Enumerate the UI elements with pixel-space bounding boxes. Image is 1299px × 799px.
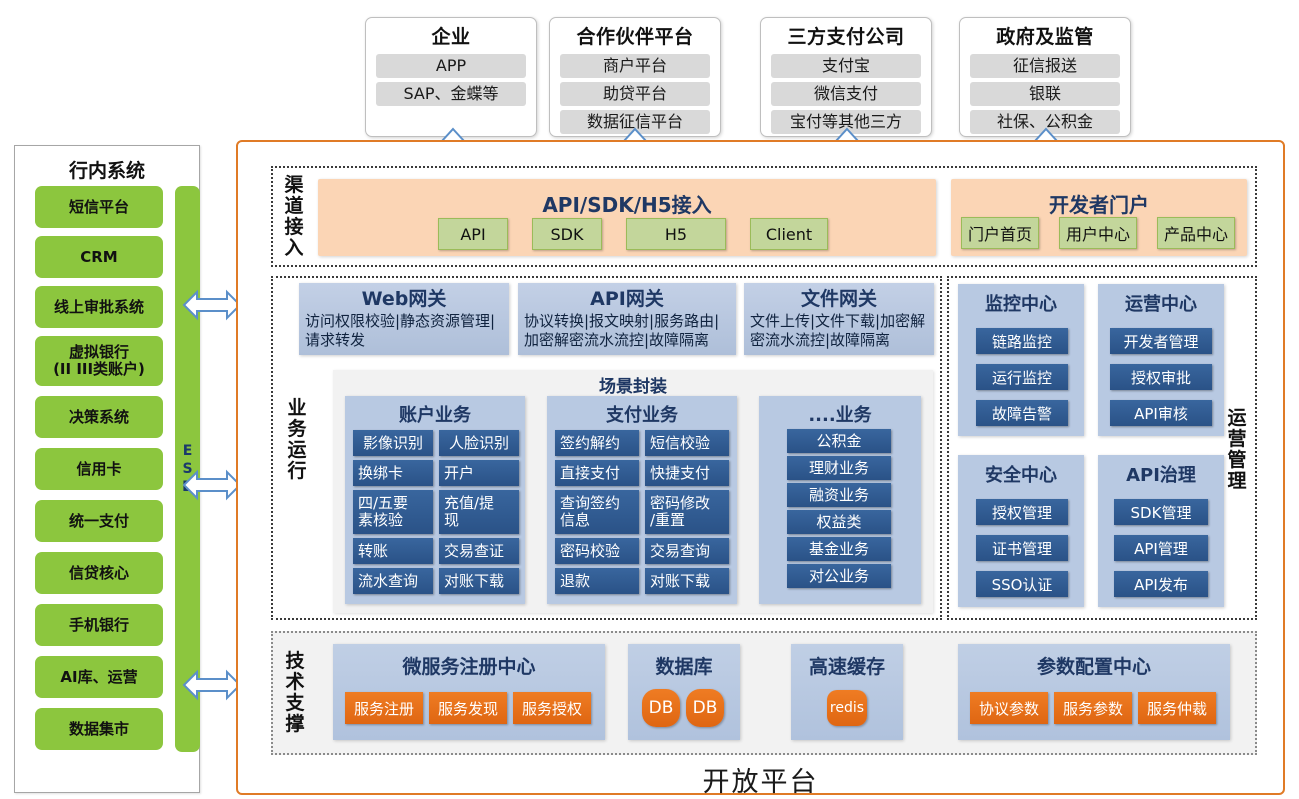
external-system-item[interactable]: 银联 [970,82,1120,106]
external-system-enterprise[interactable]: 企业 APP SAP、金蝶等 [365,17,537,137]
gateway-card-web[interactable]: Web网关 访问权限校验|静态资源管理|请求转发 [299,283,509,355]
ops-card-title: 监控中心 [958,290,1084,316]
gateway-card-api[interactable]: API网关 协议转换|报文映射|服务路由|加密解密流水流控|故障隔离 [518,283,736,355]
ops-chip[interactable]: 开发者管理 [1110,328,1212,354]
ops-chip[interactable]: API发布 [1114,571,1208,597]
gateway-title: 文件网关 [750,287,928,311]
biz-chip[interactable]: 基金业务 [787,537,891,561]
biz-chip[interactable]: 密码校验 [555,538,639,564]
bank-system-item[interactable]: 线上审批系统 [35,286,163,328]
chip-api[interactable]: API [438,218,508,250]
biz-chip[interactable]: 密码修改 /重置 [645,490,729,534]
ops-chip[interactable]: 证书管理 [976,535,1068,561]
ops-chip[interactable]: SDK管理 [1114,499,1208,525]
chip-client[interactable]: Client [750,218,828,250]
api-access-title: API/SDK/H5接入 [318,189,936,218]
biz-chip[interactable]: 短信校验 [645,430,729,456]
biz-chip[interactable]: 交易查证 [439,538,519,564]
bank-system-item[interactable]: 信贷核心 [35,552,163,594]
bank-system-item[interactable]: CRM [35,236,163,278]
biz-chip[interactable]: 快捷支付 [645,460,729,486]
business-column-title: 账户业务 [345,401,525,427]
bank-system-item[interactable]: 数据集市 [35,708,163,750]
tech-card-title: 数据库 [628,652,740,679]
bank-system-item[interactable]: 统一支付 [35,500,163,542]
external-system-item[interactable]: 助贷平台 [560,82,710,106]
tech-card-database: 数据库 DB DB [628,644,740,740]
external-system-title: 企业 [431,24,470,50]
biz-chip[interactable]: 签约解约 [555,430,639,456]
biz-chip[interactable]: 四/五要 素核验 [353,490,433,534]
external-system-title: 合作伙伴平台 [576,24,693,50]
tech-support-label: 技术支撑 [280,640,310,746]
chip-portal-home[interactable]: 门户首页 [961,217,1039,249]
ops-chip[interactable]: SSO认证 [976,571,1068,597]
ops-card-title: 安全中心 [958,461,1084,487]
biz-chip[interactable]: 影像识别 [353,430,433,456]
connector-arrow-esb-middle [183,470,241,500]
ops-card-title: 运营中心 [1098,290,1224,316]
bank-systems-panel: 行内系统 短信平台 CRM 线上审批系统 虚拟银行 (II III类账户) 决策… [14,145,200,793]
external-system-item[interactable]: SAP、金蝶等 [376,82,526,106]
tech-card-title: 微服务注册中心 [333,652,605,679]
platform-title: 开放平台 [236,760,1285,799]
external-system-government-regulation[interactable]: 政府及监管 征信报送 银联 社保、公积金 [959,17,1131,137]
tech-card-title: 参数配置中心 [958,652,1230,679]
tech-chip[interactable]: 服务注册 [345,692,423,724]
biz-chip[interactable]: 理财业务 [787,456,891,480]
external-system-item[interactable]: APP [376,54,526,78]
business-column-title: ....业务 [759,401,921,427]
esb-bar[interactable]: E S B [175,186,200,752]
chip-sdk[interactable]: SDK [532,218,602,250]
db-chip[interactable]: DB [642,689,680,727]
ops-chip[interactable]: 授权管理 [976,499,1068,525]
biz-chip[interactable]: 交易查询 [645,538,729,564]
scene-title: 场景封装 [333,372,933,397]
biz-chip[interactable]: 公积金 [787,429,891,453]
biz-chip[interactable]: 退款 [555,568,639,594]
bank-system-item[interactable]: 信用卡 [35,448,163,490]
bank-system-item[interactable]: 决策系统 [35,396,163,438]
external-system-title: 政府及监管 [996,24,1094,50]
biz-chip[interactable]: 融资业务 [787,483,891,507]
external-system-item[interactable]: 微信支付 [771,82,921,106]
tech-chip[interactable]: 服务发现 [429,692,507,724]
redis-chip[interactable]: redis [827,690,867,726]
biz-chip[interactable]: 权益类 [787,510,891,534]
biz-chip[interactable]: 转账 [353,538,433,564]
db-chip[interactable]: DB [686,689,724,727]
ops-chip[interactable]: 授权审批 [1110,364,1212,390]
chip-product-center[interactable]: 产品中心 [1157,217,1235,249]
biz-chip[interactable]: 充值/提 现 [439,490,519,534]
biz-chip[interactable]: 人脸识别 [439,430,519,456]
tech-card-title: 高速缓存 [791,652,903,679]
connector-arrow-esb-bottom [183,670,241,700]
biz-chip[interactable]: 查询签约 信息 [555,490,639,534]
ops-management-label: 运营管理 [1222,400,1252,500]
biz-chip[interactable]: 对账下载 [645,568,729,594]
scene-encapsulation-box: 场景封装 账户业务 影像识别 人脸识别 换绑卡 开户 四/五要 素核验 充值/提… [333,370,933,613]
ops-card-monitoring: 监控中心 链路监控 运行监控 故障告警 [958,284,1084,436]
business-run-label: 业务运行 [282,390,312,490]
external-system-item[interactable]: 支付宝 [771,54,921,78]
ops-card-operations: 运营中心 开发者管理 授权审批 API审核 [1098,284,1224,436]
gateway-card-file[interactable]: 文件网关 文件上传|文件下载|加密解密流水流控|故障隔离 [744,283,934,355]
esb-label-e: E [183,443,193,459]
tech-card-microservice-registry: 微服务注册中心 服务注册 服务发现 服务授权 [333,644,605,740]
biz-chip[interactable]: 对公业务 [787,564,891,588]
bank-system-item[interactable]: 短信平台 [35,186,163,228]
external-system-partner-platform[interactable]: 合作伙伴平台 商户平台 助贷平台 数据征信平台 [549,17,721,137]
bank-system-item[interactable]: AI库、运营 [35,656,163,698]
ops-chip[interactable]: API管理 [1114,535,1208,561]
chip-user-center[interactable]: 用户中心 [1059,217,1137,249]
external-system-third-party-payment[interactable]: 三方支付公司 支付宝 微信支付 宝付等其他三方 [760,17,932,137]
biz-chip[interactable]: 流水查询 [353,568,433,594]
gateway-desc: 协议转换|报文映射|服务路由|加密解密流水流控|故障隔离 [524,312,730,350]
gateway-title: API网关 [524,287,730,311]
ops-chip[interactable]: 运行监控 [976,364,1068,390]
ops-chip[interactable]: 链路监控 [976,328,1068,354]
tech-card-cache: 高速缓存 redis [791,644,903,740]
gateway-desc: 访问权限校验|静态资源管理|请求转发 [305,312,503,350]
biz-chip[interactable]: 直接支付 [555,460,639,486]
business-column-payment: 支付业务 签约解约 短信校验 直接支付 快捷支付 查询签约 信息 密码修改 /重… [547,396,737,604]
gateway-title: Web网关 [305,287,503,311]
business-column-other: ....业务 公积金 理财业务 融资业务 权益类 基金业务 对公业务 [759,396,921,604]
connector-arrow-esb-top [183,290,241,320]
gateway-desc: 文件上传|文件下载|加密解密流水流控|故障隔离 [750,312,928,350]
bank-system-item[interactable]: 虚拟银行 (II III类账户) [35,336,163,386]
chip-h5[interactable]: H5 [626,218,726,250]
ops-card-api-governance: API治理 SDK管理 API管理 API发布 [1098,455,1224,607]
bank-system-item[interactable]: 手机银行 [35,604,163,646]
external-system-item[interactable]: 征信报送 [970,54,1120,78]
biz-chip[interactable]: 开户 [439,460,519,486]
external-system-item[interactable]: 商户平台 [560,54,710,78]
tech-card-parameter-config: 参数配置中心 协议参数 服务参数 服务仲裁 [958,644,1230,740]
bank-systems-title: 行内系统 [15,156,199,183]
ops-chip[interactable]: 故障告警 [976,400,1068,426]
channel-access-label: 渠道接入 [279,168,309,266]
biz-chip[interactable]: 对账下载 [439,568,519,594]
business-column-title: 支付业务 [547,401,737,427]
ops-chip[interactable]: API审核 [1110,400,1212,426]
api-access-card: API/SDK/H5接入 API SDK H5 Client [318,179,936,256]
business-column-account: 账户业务 影像识别 人脸识别 换绑卡 开户 四/五要 素核验 充值/提 现 转账… [345,396,525,604]
ops-card-title: API治理 [1098,461,1224,487]
developer-portal-card: 开发者门户 门户首页 用户中心 产品中心 [951,179,1247,256]
ops-card-security: 安全中心 授权管理 证书管理 SSO认证 [958,455,1084,607]
biz-chip[interactable]: 换绑卡 [353,460,433,486]
tech-chip[interactable]: 协议参数 [970,692,1048,724]
tech-chip[interactable]: 服务参数 [1054,692,1132,724]
tech-chip[interactable]: 服务仲裁 [1138,692,1216,724]
external-system-title: 三方支付公司 [787,24,904,50]
tech-chip[interactable]: 服务授权 [513,692,591,724]
developer-portal-title: 开发者门户 [951,189,1247,218]
